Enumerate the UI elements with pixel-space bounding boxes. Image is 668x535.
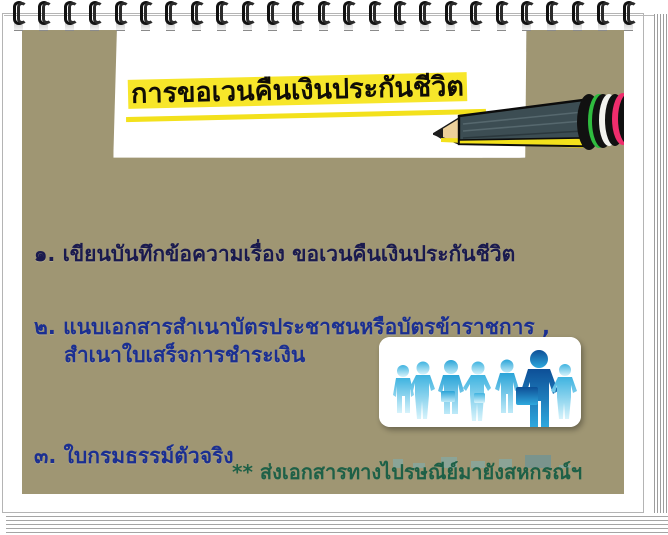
- binding-ring: [114, 1, 129, 31]
- list-item-text: ๑. เขียนบันทึกข้อความเรื่อง ขอเวนคืนเงิน…: [34, 242, 515, 266]
- binding-ring: [495, 1, 510, 31]
- page-stack-bottom-edges: [6, 513, 668, 535]
- binding-ring: [545, 1, 560, 31]
- requirements-list: ๑. เขียนบันทึกข้อความเรื่อง ขอเวนคืนเงิน…: [34, 213, 614, 489]
- binding-ring: [88, 1, 103, 31]
- list-item-text: ๒. แนบเอกสารสำเนาบัตรประชาชนหรือบัตรข้าร…: [34, 315, 550, 339]
- pencil-icon: [433, 88, 624, 168]
- binding-ring: [520, 1, 535, 31]
- binding-ring: [418, 1, 433, 31]
- binding-ring: [571, 1, 586, 31]
- binding-ring: [317, 1, 332, 31]
- binding-ring: [164, 1, 179, 31]
- slide-content-area: การขอเวนคืนเงินประกันชีวิต: [22, 30, 624, 494]
- binding-ring: [190, 1, 205, 31]
- binding-ring: [596, 1, 611, 31]
- binding-ring: [622, 1, 637, 31]
- binding-ring: [342, 1, 357, 31]
- binding-ring: [393, 1, 408, 31]
- list-item: ๒. แนบเอกสารสำเนาบัตรประชาชนหรือบัตรข้าร…: [34, 286, 614, 397]
- binding-ring: [469, 1, 484, 31]
- binding-ring: [37, 1, 52, 31]
- list-item-text-line2: สำเนาใบเสร็จการชำระเงิน: [34, 342, 614, 370]
- binding-ring: [241, 1, 256, 31]
- page-stack-right-edges: [652, 14, 668, 522]
- list-item: ๑. เขียนบันทึกข้อความเรื่อง ขอเวนคืนเงิน…: [34, 213, 614, 268]
- notepad-slide: การขอเวนคืนเงินประกันชีวิต: [0, 0, 668, 535]
- binding-ring: [139, 1, 154, 31]
- binding-ring: [291, 1, 306, 31]
- footer-note: ** ส่งเอกสารทางไปรษณีย์มายังสหกรณ์ฯ: [232, 456, 582, 488]
- binding-ring: [215, 1, 230, 31]
- binding-ring: [444, 1, 459, 31]
- binding-ring: [266, 1, 281, 31]
- binding-ring: [12, 1, 27, 31]
- list-item-text: ๓. ใบกรมธรรม์ตัวจริง: [34, 444, 234, 468]
- spiral-binding: [0, 0, 668, 32]
- binding-ring: [368, 1, 383, 31]
- binding-ring: [63, 1, 78, 31]
